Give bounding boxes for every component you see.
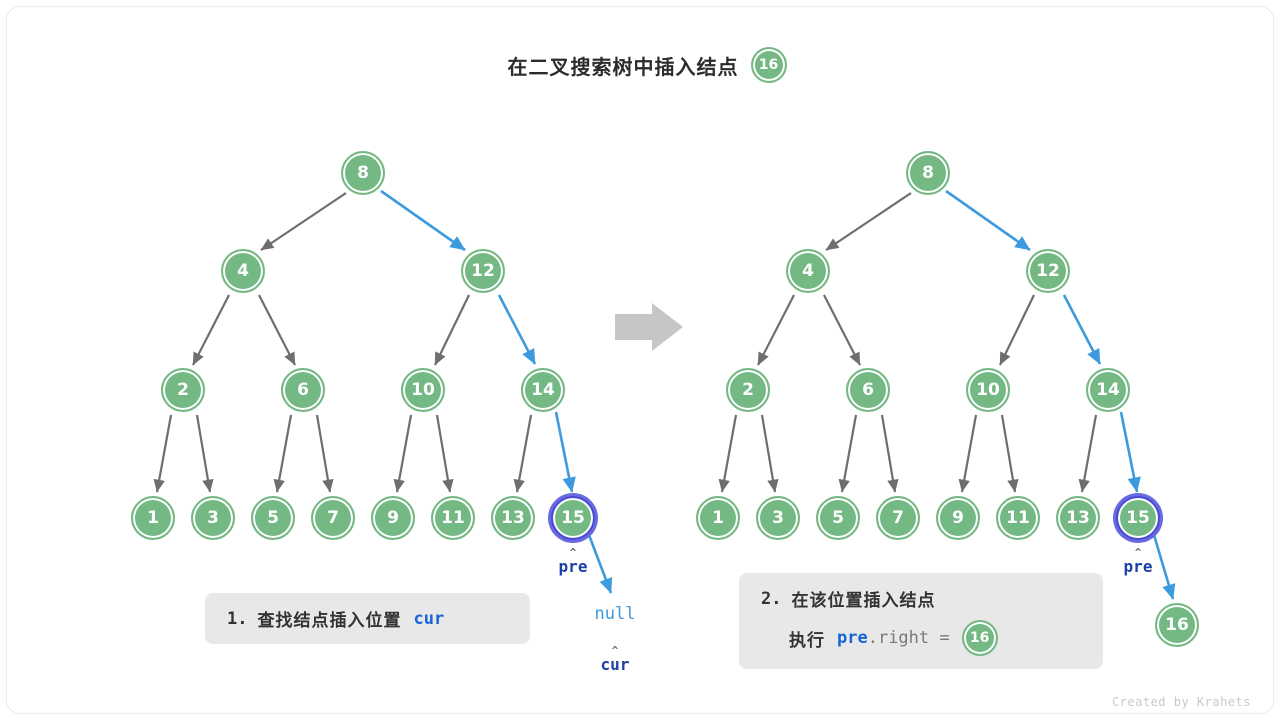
tree-node-right-12[interactable]: 12 (1026, 249, 1070, 293)
caption-step-1-line: 1. 查找结点插入位置 cur (227, 606, 508, 631)
tree-node-right-2[interactable]: 2 (726, 368, 770, 412)
tree-node-left-8[interactable]: 8 (341, 151, 385, 195)
caption-step-2-exec-label: 执行 (789, 626, 825, 651)
tree-node-right-11[interactable]: 11 (996, 496, 1040, 540)
pointer-label-cur-left: ^ cur (601, 645, 630, 674)
pointer-label-pre-right: ^ pre (1124, 547, 1153, 576)
tree-node-right-10[interactable]: 10 (966, 368, 1010, 412)
tree-node-left-12[interactable]: 12 (461, 249, 505, 293)
tree-node-left-14[interactable]: 14 (521, 368, 565, 412)
footer-credit: Created by Krahets (1112, 695, 1251, 709)
diagram-card: 在二叉搜索树中插入结点 16 8 4 12 2 6 10 14 1 3 5 7 … (6, 6, 1274, 714)
tree-node-right-15-highlighted[interactable]: 15 (1116, 496, 1160, 540)
tree-node-left-2[interactable]: 2 (161, 368, 205, 412)
null-label-left: null (595, 604, 636, 624)
caption-step-2-title: 在该位置插入结点 (791, 586, 935, 611)
tree-node-left-5[interactable]: 5 (251, 496, 295, 540)
tree-node-left-1[interactable]: 1 (131, 496, 175, 540)
tree-node-right-5[interactable]: 5 (816, 496, 860, 540)
tree-node-right-3[interactable]: 3 (756, 496, 800, 540)
tree-node-right-9[interactable]: 9 (936, 496, 980, 540)
tree-node-right-16-inserted[interactable]: 16 (1155, 603, 1199, 647)
tree-node-left-4[interactable]: 4 (221, 249, 265, 293)
caption-step-1-code: cur (413, 609, 444, 629)
tree-node-right-1[interactable]: 1 (696, 496, 740, 540)
diagram-stage: 在二叉搜索树中插入结点 16 8 4 12 2 6 10 14 1 3 5 7 … (7, 7, 1274, 714)
page-title: 在二叉搜索树中插入结点 16 (7, 47, 1274, 83)
tree-node-left-3[interactable]: 3 (191, 496, 235, 540)
caption-step-2-title-line: 2. 在该位置插入结点 (761, 586, 1081, 611)
tree-node-right-6[interactable]: 6 (846, 368, 890, 412)
tree-node-right-8[interactable]: 8 (906, 151, 950, 195)
title-text: 在二叉搜索树中插入结点 (508, 51, 739, 80)
tree-node-right-4[interactable]: 4 (786, 249, 830, 293)
tree-node-left-9[interactable]: 9 (371, 496, 415, 540)
transition-arrow-icon (615, 303, 683, 351)
tree-node-left-15-highlighted[interactable]: 15 (551, 496, 595, 540)
caption-step-2: 2. 在该位置插入结点 执行 pre .right = 16 (739, 573, 1103, 669)
caption-step-1-text: 查找结点插入位置 (257, 606, 401, 631)
tree-node-right-7[interactable]: 7 (876, 496, 920, 540)
caption-step-2-number: 2. (761, 589, 781, 609)
caption-step-2-code-pre: pre (837, 628, 868, 648)
tree-node-left-6[interactable]: 6 (281, 368, 325, 412)
pointer-label-pre-left: ^ pre (559, 547, 588, 576)
tree-node-left-7[interactable]: 7 (311, 496, 355, 540)
title-badge-node: 16 (751, 47, 787, 83)
caption-step-2-badge-node: 16 (962, 620, 998, 656)
caption-step-2-code-right: .right = (868, 628, 950, 648)
tree-node-left-10[interactable]: 10 (401, 368, 445, 412)
tree-node-left-13[interactable]: 13 (491, 496, 535, 540)
caption-step-2-code-line: 执行 pre .right = 16 (761, 620, 1081, 656)
tree-node-left-11[interactable]: 11 (431, 496, 475, 540)
caption-step-1-number: 1. (227, 609, 247, 629)
tree-node-right-14[interactable]: 14 (1086, 368, 1130, 412)
tree-node-right-13[interactable]: 13 (1056, 496, 1100, 540)
caption-step-1: 1. 查找结点插入位置 cur (205, 593, 530, 644)
